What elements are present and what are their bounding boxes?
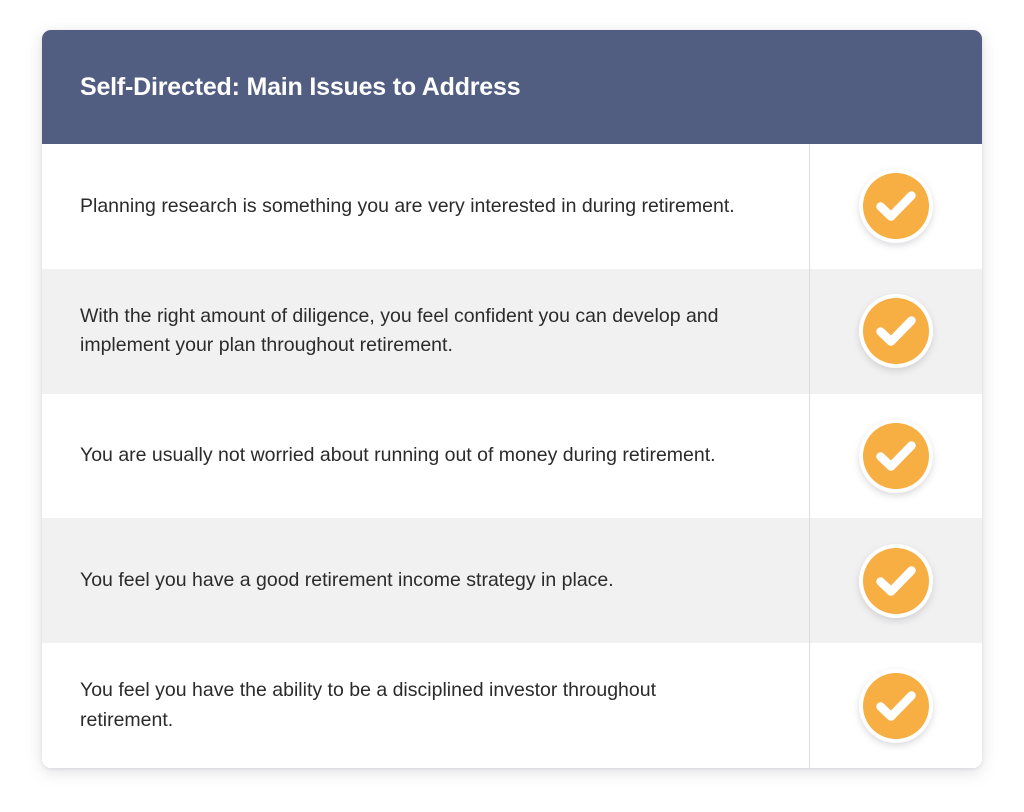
check-circle-icon	[859, 419, 933, 493]
row-status-cell	[810, 269, 982, 394]
card-title: Self-Directed: Main Issues to Address	[80, 72, 520, 102]
check-circle-icon	[859, 294, 933, 368]
issues-list: Planning research is something you are v…	[42, 144, 982, 768]
row-text-cell: You are usually not worried about runnin…	[42, 394, 810, 519]
row-statement: You feel you have the ability to be a di…	[80, 676, 740, 735]
table-row: Planning research is something you are v…	[42, 144, 982, 269]
row-statement: Planning research is something you are v…	[80, 192, 735, 222]
row-text-cell: You feel you have a good retirement inco…	[42, 518, 810, 643]
check-circle-icon	[859, 169, 933, 243]
row-status-cell	[810, 518, 982, 643]
table-row: You feel you have a good retirement inco…	[42, 518, 982, 643]
check-circle-icon	[859, 669, 933, 743]
row-statement: You are usually not worried about runnin…	[80, 441, 716, 471]
page-canvas: Self-Directed: Main Issues to Address Pl…	[0, 0, 1024, 812]
row-status-cell	[810, 394, 982, 519]
issues-card: Self-Directed: Main Issues to Address Pl…	[42, 30, 982, 768]
row-status-cell	[810, 643, 982, 768]
check-circle-icon	[859, 544, 933, 618]
table-row: With the right amount of diligence, you …	[42, 269, 982, 394]
row-text-cell: With the right amount of diligence, you …	[42, 269, 810, 394]
row-statement: With the right amount of diligence, you …	[80, 302, 740, 361]
row-text-cell: You feel you have the ability to be a di…	[42, 643, 810, 768]
table-row: You feel you have the ability to be a di…	[42, 643, 982, 768]
card-header: Self-Directed: Main Issues to Address	[42, 30, 982, 144]
row-text-cell: Planning research is something you are v…	[42, 144, 810, 269]
row-status-cell	[810, 144, 982, 269]
table-row: You are usually not worried about runnin…	[42, 394, 982, 519]
row-statement: You feel you have a good retirement inco…	[80, 566, 614, 596]
